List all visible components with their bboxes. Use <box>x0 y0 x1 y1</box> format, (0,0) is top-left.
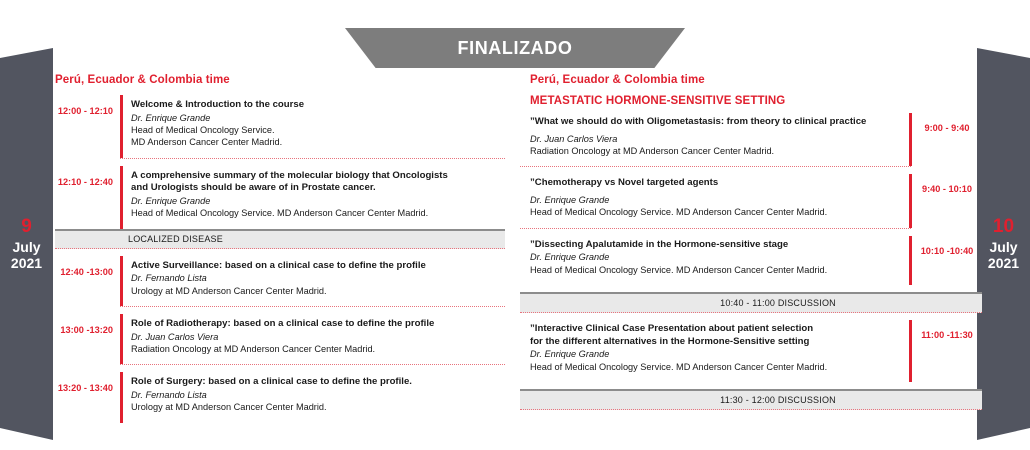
agenda-column-day1: Perú, Ecuador & Colombia time 12:00 - 12… <box>55 74 505 423</box>
agenda-row-speaker: Dr. Enrique Grande <box>530 251 901 263</box>
date-badge-day1-month: July <box>12 239 40 256</box>
agenda-row-affiliation: Head of Medical Oncology Service. <box>131 124 505 136</box>
agenda-row-time: 13:20 - 13:40 <box>58 383 113 393</box>
agenda-row-speaker: Dr. Enrique Grande <box>131 112 505 124</box>
agenda-row-speaker: Dr. Enrique Grande <box>131 195 505 207</box>
agenda-row-time-cell: 12:00 - 12:10 <box>55 95 120 158</box>
agenda-row: 12:00 - 12:10 Welcome & Introduction to … <box>55 95 505 158</box>
agenda-row-speaker: Dr. Fernando Lista <box>131 389 505 401</box>
timezone-header-day1: Perú, Ecuador & Colombia time <box>55 74 505 86</box>
agenda-row-title: A comprehensive summary of the molecular… <box>131 170 505 183</box>
agenda-row: 13:20 - 13:40 Role of Surgery: based on … <box>55 372 505 422</box>
date-badge-day2-year: 2021 <box>988 255 1019 272</box>
agenda-row-title: Welcome & Introduction to the course <box>131 99 505 112</box>
agenda-row-content: Role of Radiotherapy: based on a clinica… <box>123 314 505 364</box>
agenda-row-time: 12:40 -13:00 <box>60 267 113 277</box>
date-badge-day2: 10 July 2021 <box>977 48 1030 440</box>
agenda-row: 12:40 -13:00 Active Surveillance: based … <box>55 256 505 306</box>
date-badge-day1-day: 9 <box>21 216 32 238</box>
agenda-row-affiliation: Head of Medical Oncology Service. MD And… <box>131 207 505 219</box>
discussion-band: 11:30 - 12:00 DISCUSSION <box>520 389 982 410</box>
agenda-row-time-cell: 12:40 -13:00 <box>55 256 120 306</box>
agenda-row-time-cell: 12:10 - 12:40 <box>55 166 120 229</box>
status-banner-label: FINALIZADO <box>458 38 573 59</box>
agenda-row-time-cell: 9:00 - 9:40 <box>912 113 982 166</box>
agenda-row-content: ”Dissecting Apalutamide in the Hormone-s… <box>520 236 909 285</box>
status-banner: FINALIZADO <box>345 28 685 68</box>
agenda-row-time-cell: 13:20 - 13:40 <box>55 372 120 422</box>
status-banner-wrapper: FINALIZADO <box>0 28 1030 70</box>
agenda-row-speaker: Dr. Juan Carlos Viera <box>530 133 901 145</box>
agenda-row-affiliation: Head of Medical Oncology Service. MD And… <box>530 206 901 218</box>
agenda-row-time: 13:00 -13:20 <box>60 325 113 335</box>
agenda-row-affiliation: Urology at MD Anderson Cancer Center Mad… <box>131 401 505 413</box>
agenda-row-title: Role of Surgery: based on a clinical cas… <box>131 376 505 389</box>
agenda-row: ”Interactive Clinical Case Presentation … <box>520 320 982 382</box>
discussion-band-label: 10:40 - 11:00 DISCUSSION <box>720 298 836 308</box>
agenda-row-time-cell: 10:10 -10:40 <box>912 236 982 285</box>
agenda-row-content: ”What we should do with Oligometastasis:… <box>520 113 909 166</box>
discussion-band: 10:40 - 11:00 DISCUSSION <box>520 292 982 313</box>
agenda-row-time-cell: 13:00 -13:20 <box>55 314 120 364</box>
agenda-row-title: ”Interactive Clinical Case Presentation … <box>530 323 901 336</box>
agenda-row: 12:10 - 12:40 A comprehensive summary of… <box>55 166 505 229</box>
agenda-row-content: ”Chemotherapy vs Novel targeted agents D… <box>520 174 909 227</box>
date-badge-day2-day: 10 <box>993 216 1014 238</box>
date-badge-day1-year: 2021 <box>11 255 42 272</box>
agenda-row-time: 9:00 - 9:40 <box>925 123 970 133</box>
discussion-band-label: 11:30 - 12:00 DISCUSSION <box>720 395 836 405</box>
agenda-row: ”What we should do with Oligometastasis:… <box>520 113 982 166</box>
agenda-row-title: for the different alternatives in the Ho… <box>530 336 901 349</box>
agenda-row-speaker: Dr. Fernando Lista <box>131 272 505 284</box>
agenda-row-title: ”Dissecting Apalutamide in the Hormone-s… <box>530 239 901 252</box>
agenda-row-content: Active Surveillance: based on a clinical… <box>123 256 505 306</box>
agenda-row-affiliation: Urology at MD Anderson Cancer Center Mad… <box>131 285 505 297</box>
agenda-row-title: Role of Radiotherapy: based on a clinica… <box>131 318 505 331</box>
date-badge-day1: 9 July 2021 <box>0 48 53 440</box>
agenda-row-time: 12:00 - 12:10 <box>58 106 113 116</box>
agenda-row: ”Chemotherapy vs Novel targeted agents D… <box>520 174 982 227</box>
agenda-row-time: 9:40 - 10:10 <box>922 184 972 194</box>
agenda-row-affiliation: Radiation Oncology at MD Anderson Cancer… <box>131 343 505 355</box>
agenda-row-speaker: Dr. Enrique Grande <box>530 194 901 206</box>
agenda-row-title: ”Chemotherapy vs Novel targeted agents <box>530 177 901 190</box>
section-title-metastatic: METASTATIC HORMONE-SENSITIVE SETTING <box>530 95 982 107</box>
section-band-localized-disease: LOCALIZED DISEASE <box>55 229 505 249</box>
agenda-row-content: A comprehensive summary of the molecular… <box>123 166 505 229</box>
agenda-row-speaker: Dr. Juan Carlos Viera <box>131 331 505 343</box>
agenda-row-time-cell: 11:00 -11:30 <box>912 320 982 382</box>
agenda-row-title: Active Surveillance: based on a clinical… <box>131 260 505 273</box>
agenda-row-speaker: Dr. Enrique Grande <box>530 348 901 360</box>
agenda-row-time: 10:10 -10:40 <box>921 246 974 256</box>
agenda-row-affiliation: MD Anderson Cancer Center Madrid. <box>131 136 505 148</box>
agenda-row: ”Dissecting Apalutamide in the Hormone-s… <box>520 236 982 285</box>
agenda-row-content: ”Interactive Clinical Case Presentation … <box>520 320 909 382</box>
agenda-row: 13:00 -13:20 Role of Radiotherapy: based… <box>55 314 505 364</box>
agenda-row-time: 11:00 -11:30 <box>921 330 973 340</box>
section-band-label: LOCALIZED DISEASE <box>128 234 223 244</box>
agenda-row-title: and Urologists should be aware of in Pro… <box>131 182 505 195</box>
agenda-row-content: Role of Surgery: based on a clinical cas… <box>123 372 505 422</box>
timezone-header-day2: Perú, Ecuador & Colombia time <box>530 74 982 86</box>
agenda-row-time: 12:10 - 12:40 <box>58 177 113 187</box>
agenda-row-affiliation: Head of Medical Oncology Service. MD And… <box>530 361 901 373</box>
agenda-row-time-cell: 9:40 - 10:10 <box>912 174 982 227</box>
date-badge-day2-month: July <box>989 239 1017 256</box>
agenda-row-content: Welcome & Introduction to the course Dr.… <box>123 95 505 158</box>
agenda-row-affiliation: Head of Medical Oncology Service. MD And… <box>530 264 901 276</box>
agenda-column-day2: Perú, Ecuador & Colombia time METASTATIC… <box>520 74 982 410</box>
agenda-row-title: ”What we should do with Oligometastasis:… <box>530 116 901 129</box>
agenda-row-affiliation: Radiation Oncology at MD Anderson Cancer… <box>530 145 901 157</box>
